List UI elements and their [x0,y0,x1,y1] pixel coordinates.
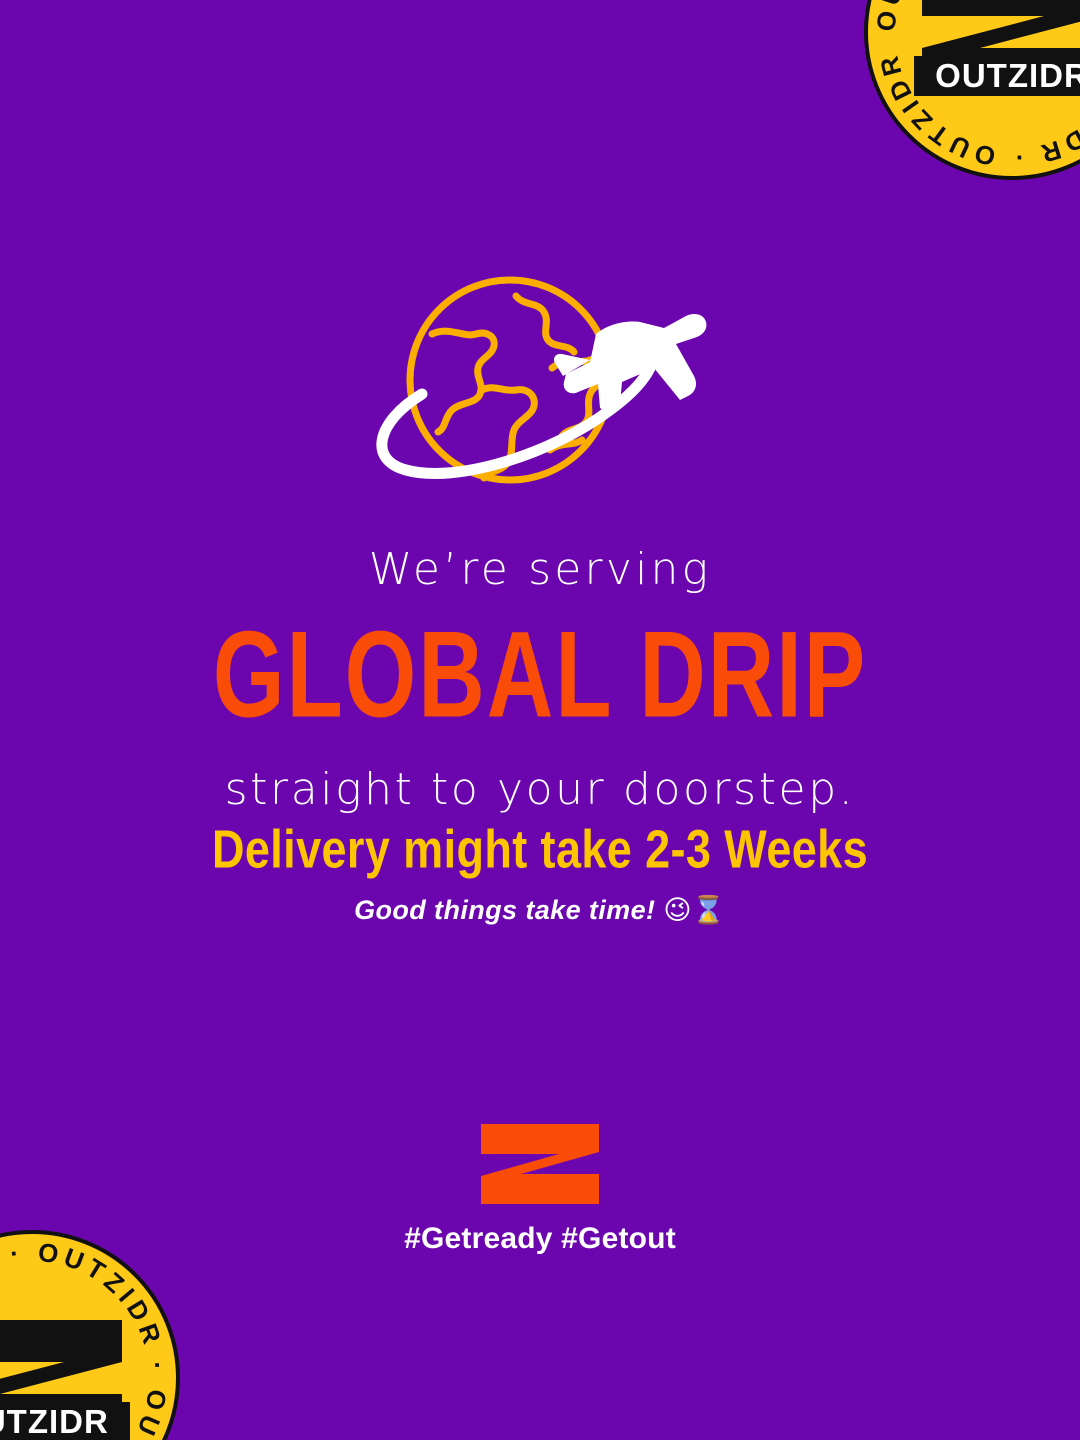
outzidr-badge-top-right: OUTZIDR · OUTZIDR · OUTZIDR · OUTZIDR · … [862,0,1080,182]
delivery-time-text: Delivery might take 2-3 Weeks [0,822,1080,876]
badge-z-mark [0,1320,122,1436]
badge-ring-text: OUTZIDR · OUTZIDR · OUTZIDR · OUTZIDR · [0,1228,173,1440]
delivery-reassurance-label: Good things take time! [354,895,655,925]
outzidr-badge-bottom-left: OUTZIDR · OUTZIDR · OUTZIDR · OUTZIDR · … [0,1228,182,1440]
badge-wordmark-text: OUTZIDR [0,1403,109,1440]
badge-ring-textpath: OUTZIDR · OUTZIDR · OUTZIDR · OUTZIDR · [0,1228,173,1440]
badge-wordmark: OUTZIDR [0,1402,130,1440]
badge-wordmark-text: OUTZIDR [935,57,1080,94]
winking-face-icon: 😉 [663,895,692,926]
headline-subhead: straight to your doorstep. [0,768,1080,812]
hashtags-text: #Getready #Getout [0,1222,1080,1256]
hourglass-icon: ⌛ [692,895,726,926]
badge-wordmark: OUTZIDR [914,56,1080,96]
globe-airplane-illustration [0,272,1080,510]
badge-z-mark [922,0,1080,90]
headline-kicker: We’re serving [0,548,1080,592]
badge-ring-textpath: OUTZIDR · OUTZIDR · OUTZIDR · OUTZIDR · [862,0,1080,173]
headline-block: We’re serving GLOBAL DRIP straight to yo… [0,548,1080,812]
promo-poster: OUTZIDR · OUTZIDR · OUTZIDR · OUTZIDR · … [0,0,1080,1440]
page-title: GLOBAL DRIP [22,614,1059,737]
badge-ring-text: OUTZIDR · OUTZIDR · OUTZIDR · OUTZIDR · [862,0,1080,173]
delivery-reassurance-text: Good things take time! 😉⌛ [0,897,1080,924]
delivery-note-block: Delivery might take 2-3 Weeks Good thing… [0,822,1080,924]
outzidr-z-logo [477,1122,603,1206]
footer-block: #Getready #Getout [0,1122,1080,1256]
